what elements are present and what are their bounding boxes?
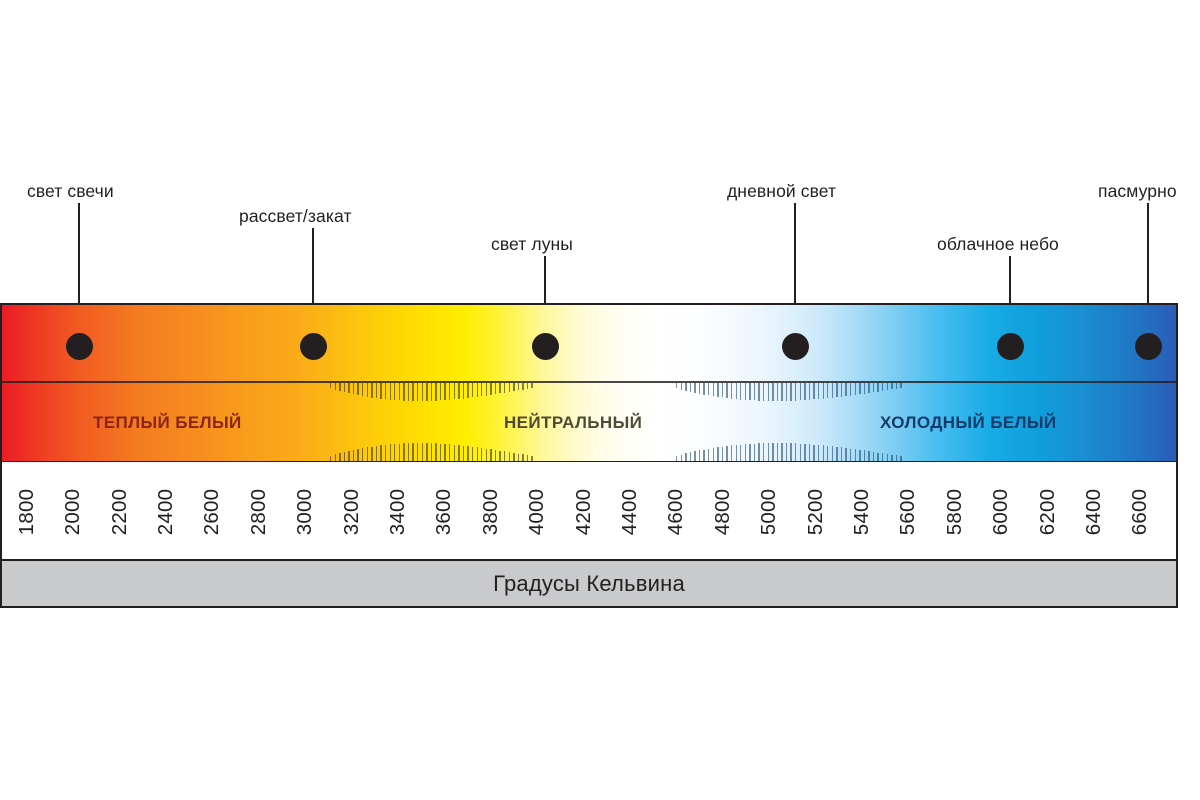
kelvin-tick-label: 6000: [990, 470, 1012, 554]
kelvin-tick-value: 4400: [618, 489, 642, 535]
color-temperature-chart: свет свечирассвет/закатсвет луныдневной …: [0, 0, 1200, 800]
marker-dot: [1135, 333, 1162, 360]
kelvin-tick-label: 3800: [480, 470, 502, 554]
kelvin-tick-label: 3200: [341, 470, 363, 554]
kelvin-tick-value: 4200: [572, 489, 596, 535]
kelvin-tick-label: 6600: [1130, 470, 1152, 554]
kelvin-tick-label: 4600: [666, 470, 688, 554]
kelvin-tick-label: 2600: [202, 470, 224, 554]
kelvin-tick-value: 4600: [665, 489, 689, 535]
kelvin-tick-value: 3000: [293, 489, 317, 535]
band-caption: НЕЙТРАЛЬНЫЙ: [504, 413, 642, 433]
kelvin-tick-value: 5800: [943, 489, 967, 535]
kelvin-tick-label: 1800: [16, 470, 38, 554]
color-temperature-band: ТЕПЛЫЙ БЕЛЫЙНЕЙТРАЛЬНЫЙХОЛОДНЫЙ БЕЛЫЙ: [0, 303, 1178, 463]
kelvin-tick-label: 2200: [109, 470, 131, 554]
kelvin-tick-label: 6200: [1037, 470, 1059, 554]
kelvin-tick-label: 5000: [758, 470, 780, 554]
kelvin-tick-label: 4200: [573, 470, 595, 554]
kelvin-tick-label: 2800: [248, 470, 270, 554]
kelvin-tick-label: 5600: [898, 470, 920, 554]
kelvin-tick-label: 4400: [619, 470, 641, 554]
kelvin-tick-value: 4000: [525, 489, 549, 535]
marker-dot: [997, 333, 1024, 360]
kelvin-tick-value: 5200: [804, 489, 828, 535]
kelvin-tick-label: 6400: [1083, 470, 1105, 554]
kelvin-tick-value: 6200: [1036, 489, 1060, 535]
kelvin-tick-value: 2400: [154, 489, 178, 535]
kelvin-footer-label: Градусы Кельвина: [493, 571, 685, 597]
kelvin-tick-value: 6600: [1129, 489, 1153, 535]
band-divider: [2, 381, 1176, 383]
kelvin-tick-value: 2800: [247, 489, 271, 535]
band-caption: ХОЛОДНЫЙ БЕЛЫЙ: [880, 413, 1057, 433]
callout-label: дневной свет: [727, 181, 836, 202]
kelvin-tick-value: 3200: [340, 489, 364, 535]
kelvin-tick-value: 6400: [1082, 489, 1106, 535]
marker-dot: [532, 333, 559, 360]
kelvin-tick-value: 3800: [479, 489, 503, 535]
kelvin-tick-label: 4000: [526, 470, 548, 554]
band-caption: ТЕПЛЫЙ БЕЛЫЙ: [93, 413, 242, 433]
kelvin-tick-value: 3600: [433, 489, 457, 535]
kelvin-tick-value: 5000: [757, 489, 781, 535]
kelvin-tick-value: 5600: [897, 489, 921, 535]
kelvin-tick-value: 4800: [711, 489, 735, 535]
callout-label: пасмурно: [1098, 181, 1177, 202]
kelvin-tick-label: 5400: [851, 470, 873, 554]
callout-label: рассвет/закат: [239, 206, 352, 227]
marker-dot: [66, 333, 93, 360]
gradient-fill: [2, 305, 1176, 461]
kelvin-footer-bar: Градусы Кельвина: [0, 561, 1178, 608]
marker-dot: [300, 333, 327, 360]
kelvin-tick-value: 2200: [108, 489, 132, 535]
marker-dot: [782, 333, 809, 360]
kelvin-tick-label: 3000: [294, 470, 316, 554]
kelvin-tick-value: 1800: [15, 489, 39, 535]
kelvin-tick-label: 2000: [62, 470, 84, 554]
kelvin-tick-value: 2600: [201, 489, 225, 535]
kelvin-tick-label: 5200: [805, 470, 827, 554]
kelvin-tick-label: 2400: [155, 470, 177, 554]
kelvin-tick-value: 6000: [989, 489, 1013, 535]
callout-label: свет свечи: [27, 181, 114, 202]
kelvin-tick-label: 3600: [434, 470, 456, 554]
kelvin-tick-label: 3400: [387, 470, 409, 554]
kelvin-tick-value: 2000: [61, 489, 85, 535]
kelvin-tick-value: 5400: [850, 489, 874, 535]
callout-label: свет луны: [491, 234, 573, 255]
callout-label: облачное небо: [937, 234, 1059, 255]
kelvin-scale: 1800200022002400260028003000320034003600…: [0, 462, 1178, 561]
kelvin-tick-label: 4800: [712, 470, 734, 554]
kelvin-tick-label: 5800: [944, 470, 966, 554]
kelvin-tick-value: 3400: [386, 489, 410, 535]
